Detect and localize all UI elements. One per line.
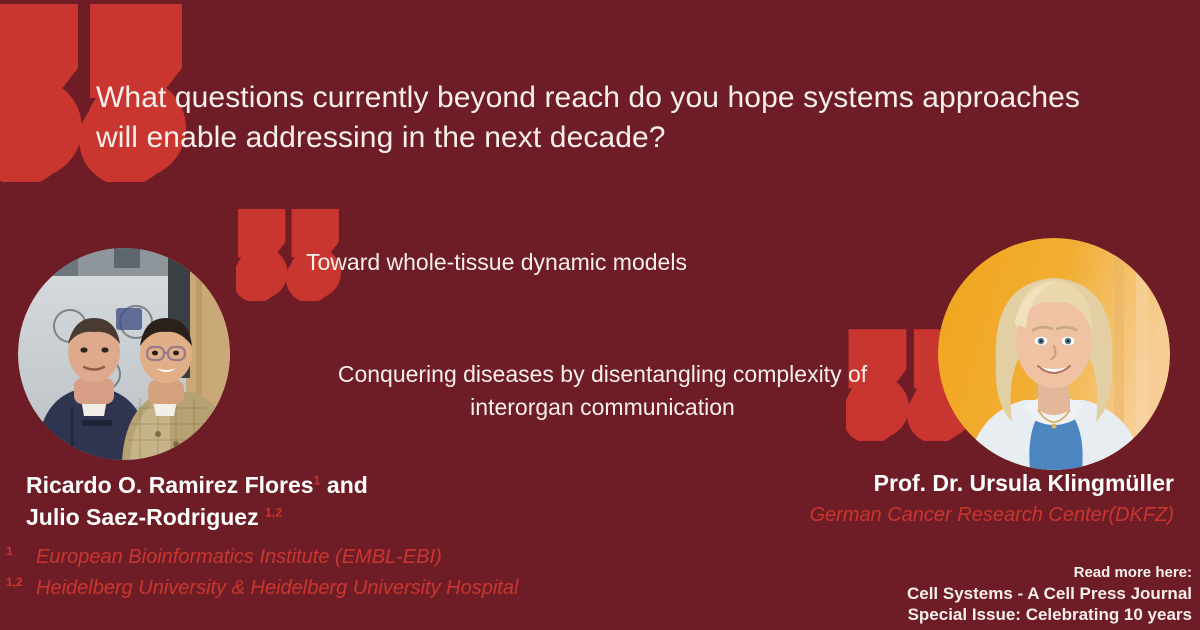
author-conjunction: and xyxy=(321,472,368,498)
quote-poster: What questions currently beyond reach do… xyxy=(0,0,1200,630)
author-names-left: Ricardo O. Ramirez Flores1 and Julio Sae… xyxy=(26,470,626,533)
author-line-2: Julio Saez-Rodriguez 1,2 xyxy=(26,502,626,534)
author-name-1: Ricardo O. Ramirez Flores xyxy=(26,472,314,498)
footer-journal: Cell Systems - A Cell Press Journal xyxy=(907,583,1192,605)
footer: Read more here: Cell Systems - A Cell Pr… xyxy=(907,563,1192,626)
avatar-right-author xyxy=(938,238,1170,470)
affiliations-left: 1European Bioinformatics Institute (EMBL… xyxy=(6,542,706,604)
author-name-right: Prof. Dr. Ursula Klingmüller xyxy=(560,468,1174,500)
pull-quote-left: Toward whole-tissue dynamic models xyxy=(306,246,736,279)
affiliation-marker: 1,2 xyxy=(6,573,36,592)
avatar-left-authors xyxy=(18,248,230,460)
footer-lead: Read more here: xyxy=(907,563,1192,582)
footer-issue: Special Issue: Celebrating 10 years xyxy=(907,604,1192,626)
page-title: What questions currently beyond reach do… xyxy=(96,78,1106,157)
affiliation-row: 1European Bioinformatics Institute (EMBL… xyxy=(6,542,706,573)
pull-quote-right: Conquering diseases by disentangling com… xyxy=(330,358,875,425)
author-line-1: Ricardo O. Ramirez Flores1 and xyxy=(26,470,626,502)
affiliation-marker: 1,2 xyxy=(265,505,283,519)
affiliation-marker: 1 xyxy=(6,542,36,561)
affiliation-right: German Cancer Research Center(DKFZ) xyxy=(560,500,1174,531)
affiliation-text: Heidelberg University & Heidelberg Unive… xyxy=(36,577,518,599)
affiliation-marker: 1 xyxy=(314,473,321,487)
affiliation-text: European Bioinformatics Institute (EMBL-… xyxy=(36,546,442,568)
affiliation-row: 1,2Heidelberg University & Heidelberg Un… xyxy=(6,573,706,604)
author-name-2: Julio Saez-Rodriguez xyxy=(26,504,259,530)
